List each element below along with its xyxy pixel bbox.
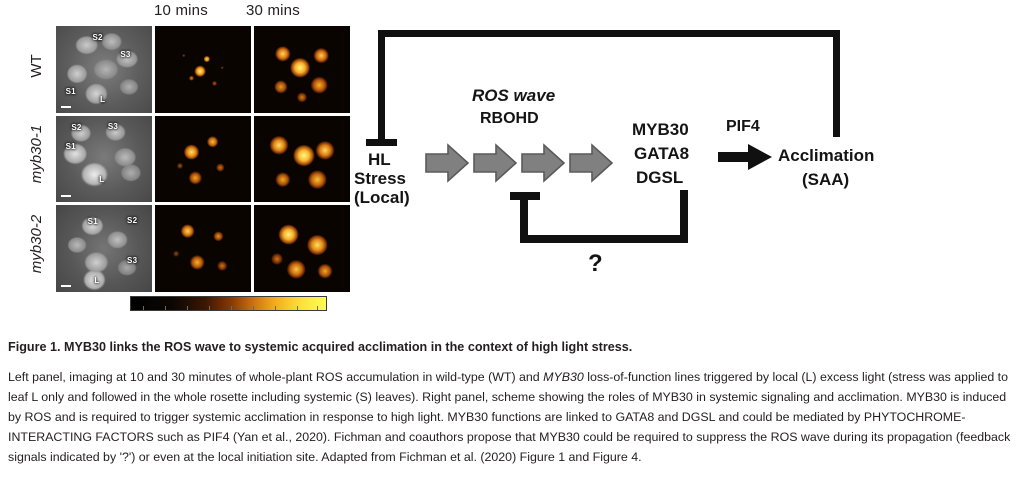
imaging-panel: 10 mins 30 mins WT myb30-1 myb30-2 S2 S3… [18,0,360,336]
label-pif4: PIF4 [726,118,760,136]
leaf-tag-s2: S2 [92,33,102,42]
image-cell-wt-10mins [155,26,251,113]
scale-bar [61,195,71,197]
leaf-tag-s2: S2 [127,216,137,225]
label-gata8: GATA8 [634,144,689,164]
column-header-10mins: 10 mins [154,2,208,19]
inhibition-tbar-hl-stress [366,139,397,146]
row-label-myb30-1: myb30-1 [28,112,48,196]
image-cell-wt-30mins [254,26,350,113]
ros-wave-arrow-2 [472,143,518,183]
label-hl: HL [368,150,391,170]
colorbar-labels [130,311,325,321]
label-saa: (SAA) [802,170,849,190]
image-cell-myb30-2-brightfield: S1 S2 S3 L [56,205,152,292]
image-cell-wt-brightfield: S2 S3 S1 L [56,26,152,113]
label-question-mark: ? [588,250,603,278]
row-label-myb30-2: myb30-2 [28,202,48,286]
ros-wave-arrow-3 [520,143,566,183]
leaf-tag-s3: S3 [120,50,130,59]
image-cell-myb30-1-brightfield: S2 S3 S1 L [56,116,152,203]
leaf-tag-s1: S1 [66,87,76,96]
feedback-loop-bottom-right-vertical [680,190,688,243]
label-myb30: MYB30 [632,120,689,140]
caption-body: Left panel, imaging at 10 and 30 minutes… [8,367,1016,467]
ros-wave-arrow-1 [424,143,470,183]
intensity-colorbar [130,296,327,311]
feedback-loop-bottom-horizontal [520,235,688,243]
leaf-tag-s1: S1 [88,217,98,226]
row-label-wt: WT [28,24,48,108]
leaf-tag-s3: S3 [108,122,118,131]
leaf-tag-s2: S2 [71,123,81,132]
label-local: (Local) [354,188,410,208]
image-cell-myb30-2-30mins [254,205,350,292]
column-header-30mins: 30 mins [246,2,300,19]
inhibition-tbar-ros-wave [510,192,540,200]
image-cell-myb30-2-10mins [155,205,251,292]
imaging-grid: S2 S3 S1 L S2 S3 S1 L S1 S2 S3 [56,26,350,292]
caption-title: Figure 1. MYB30 links the ROS wave to sy… [8,340,1016,356]
acclimation-arrow [718,142,774,177]
scale-bar [61,106,71,108]
leaf-tag-l: L [94,276,99,285]
leaf-tag-l: L [99,175,104,184]
image-cell-myb30-1-10mins [155,116,251,203]
feedback-loop-top-left-vertical [378,30,385,142]
ros-wave-arrow-4 [568,143,614,183]
caption-body-gene-name: MYB30 [543,370,584,384]
figure-caption: Figure 1. MYB30 links the ROS wave to sy… [8,340,1016,467]
leaf-tag-s3: S3 [127,256,137,265]
label-rbohd: RBOHD [480,110,539,128]
label-dgsl: DGSL [636,168,683,188]
colorbar-ticks [131,306,326,310]
image-cell-myb30-1-30mins [254,116,350,203]
pathway-diagram: HL Stress (Local) ROS wave RBOHD MYB30 G… [360,0,960,336]
label-ros-wave: ROS wave [472,86,555,106]
label-acclimation: Acclimation [778,146,874,166]
scale-bar [61,285,71,287]
colorbar-wrap [130,296,330,321]
feedback-loop-bottom-left-vertical [520,196,528,243]
leaf-tag-l: L [100,95,105,104]
feedback-loop-top-right-vertical [833,30,840,137]
caption-body-pre: Left panel, imaging at 10 and 30 minutes… [8,370,543,384]
feedback-loop-top-horizontal [378,30,840,37]
row-labels: WT myb30-1 myb30-2 [18,26,54,292]
label-stress: Stress [354,169,406,189]
figure-area: 10 mins 30 mins WT myb30-1 myb30-2 S2 S3… [0,0,1024,336]
column-headers: 10 mins 30 mins [18,0,360,24]
leaf-tag-s1: S1 [66,142,76,151]
